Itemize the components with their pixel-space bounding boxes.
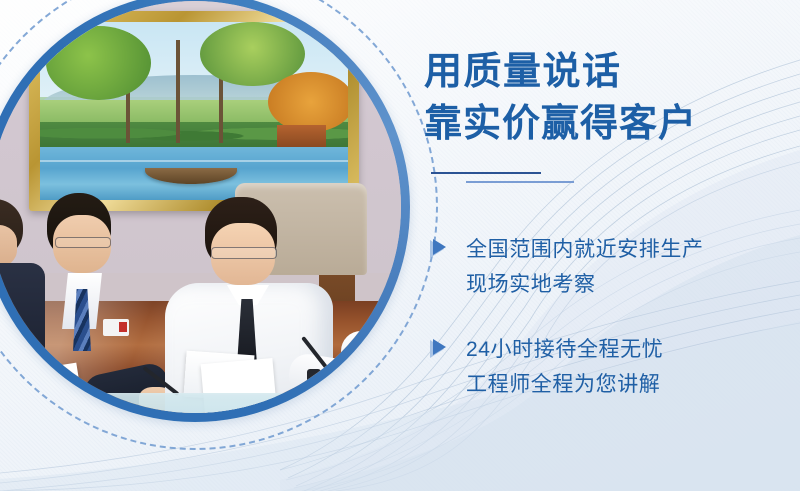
divider-line-dark xyxy=(431,172,541,174)
person-center-glasses xyxy=(211,247,277,259)
landscape-painting xyxy=(40,22,348,200)
glass-tabletop xyxy=(39,393,349,413)
promo-banner: 用质量说话 靠实价赢得客户 全国范围内就近安排生产 现场实地考察 xyxy=(0,0,800,491)
photo-image xyxy=(0,1,401,413)
divider-line-light xyxy=(466,181,574,183)
text-content: 用质量说话 靠实价赢得客户 全国范围内就近安排生产 现场实地考察 xyxy=(424,0,800,491)
list-item: 全国范围内就近安排生产 现场实地考察 xyxy=(424,232,800,302)
person-suit-glasses xyxy=(55,237,111,248)
feature-list: 全国范围内就近安排生产 现场实地考察 24小时接待全程无忧 工程师全程为您讲解 xyxy=(424,232,800,432)
headline: 用质量说话 靠实价赢得客户 xyxy=(424,46,800,150)
person-suit-name-badge xyxy=(103,319,129,336)
bullet-1-line-1: 全国范围内就近安排生产 xyxy=(466,232,800,267)
headline-line-1: 用质量说话 xyxy=(424,46,800,98)
headline-divider xyxy=(428,172,608,186)
person-right-hand xyxy=(335,363,365,387)
headline-line-2: 靠实价赢得客户 xyxy=(424,98,800,150)
bullet-2-line-1: 24小时接待全程无忧 xyxy=(466,332,800,367)
picture-frame xyxy=(29,11,359,211)
circular-photo xyxy=(0,0,410,422)
meeting-scene xyxy=(0,1,401,413)
bullet-2-line-2: 工程师全程为您讲解 xyxy=(466,367,800,402)
triangle-bullet-icon xyxy=(428,238,448,258)
triangle-bullet-icon xyxy=(428,338,448,358)
bullet-1-line-2: 现场实地考察 xyxy=(466,267,800,302)
list-item: 24小时接待全程无忧 工程师全程为您讲解 xyxy=(424,332,800,402)
